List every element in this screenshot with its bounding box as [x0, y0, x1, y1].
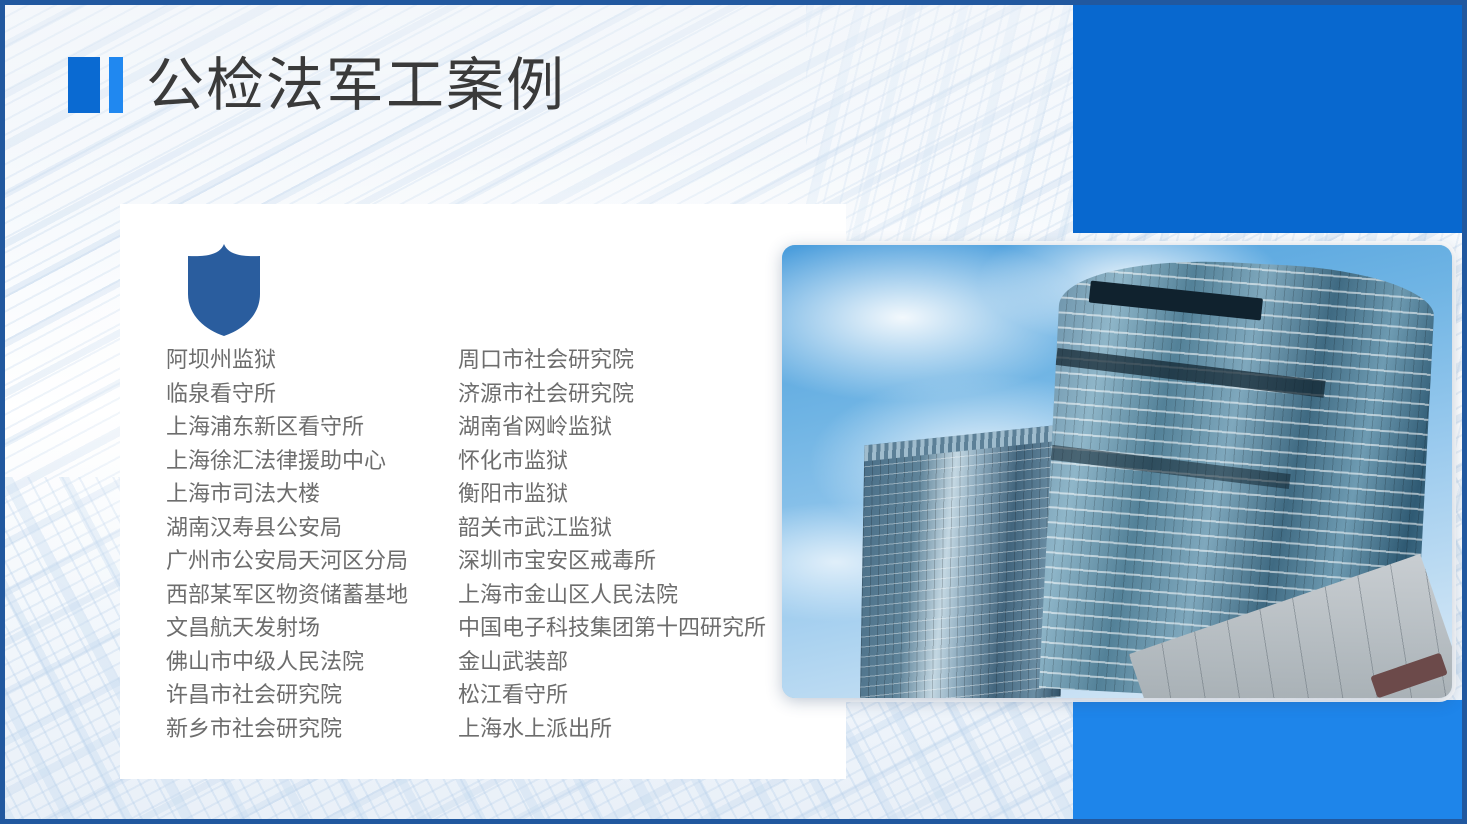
slide-title-row: 公检法军工案例: [68, 56, 566, 114]
presentation-slide: 公检法军工案例 阿坝州监狱 临泉看守所 上海浦东新区看守所 上海徐汇法律援助中心…: [0, 0, 1467, 824]
list-item: 中国电子科技集团第十四研究所: [458, 612, 788, 646]
list-item: 金山武装部: [458, 646, 788, 680]
list-item: 文昌航天发射场: [166, 612, 458, 646]
list-item: 佛山市中级人民法院: [166, 646, 458, 680]
list-item: 湖南省网岭监狱: [458, 411, 788, 445]
title-accent-bars: [68, 57, 123, 113]
list-item: 衡阳市监狱: [458, 478, 788, 512]
list-item: 济源市社会研究院: [458, 378, 788, 412]
list-item: 上海水上派出所: [458, 713, 788, 747]
list-item: 许昌市社会研究院: [166, 679, 458, 713]
list-item: 临泉看守所: [166, 378, 458, 412]
accent-bar-dark: [68, 57, 100, 113]
list-item: 周口市社会研究院: [458, 344, 788, 378]
page-title: 公检法军工案例: [146, 56, 566, 114]
list-item: 上海徐汇法律援助中心: [166, 445, 458, 479]
list-item: 韶关市武江监狱: [458, 512, 788, 546]
accent-bar-light: [109, 57, 123, 113]
case-list-column-right: 周口市社会研究院 济源市社会研究院 湖南省网岭监狱 怀化市监狱 衡阳市监狱 韶关…: [458, 344, 788, 746]
list-item: 松江看守所: [458, 679, 788, 713]
list-item: 新乡市社会研究院: [166, 713, 458, 747]
glass-skyscrapers-photo: [782, 245, 1452, 698]
list-item: 深圳市宝安区戒毒所: [458, 545, 788, 579]
list-item: 西部某军区物资储蓄基地: [166, 579, 458, 613]
rectangular-tower: [860, 424, 1066, 698]
content-card: 阿坝州监狱 临泉看守所 上海浦东新区看守所 上海徐汇法律援助中心 上海市司法大楼…: [120, 204, 846, 779]
list-item: 上海市金山区人民法院: [458, 579, 788, 613]
right-panel-bottom: [1073, 700, 1462, 824]
list-item: 湖南汉寿县公安局: [166, 512, 458, 546]
list-item: 广州市公安局天河区分局: [166, 545, 458, 579]
list-item: 上海市司法大楼: [166, 478, 458, 512]
right-panel-top: [1073, 5, 1462, 233]
case-list-column-left: 阿坝州监狱 临泉看守所 上海浦东新区看守所 上海徐汇法律援助中心 上海市司法大楼…: [166, 344, 458, 746]
list-item: 阿坝州监狱: [166, 344, 458, 378]
tower-window-grid: [860, 424, 1066, 698]
shield-icon: [184, 242, 264, 338]
case-lists: 阿坝州监狱 临泉看守所 上海浦东新区看守所 上海徐汇法律援助中心 上海市司法大楼…: [166, 344, 826, 746]
list-item: 怀化市监狱: [458, 445, 788, 479]
list-item: 上海浦东新区看守所: [166, 411, 458, 445]
